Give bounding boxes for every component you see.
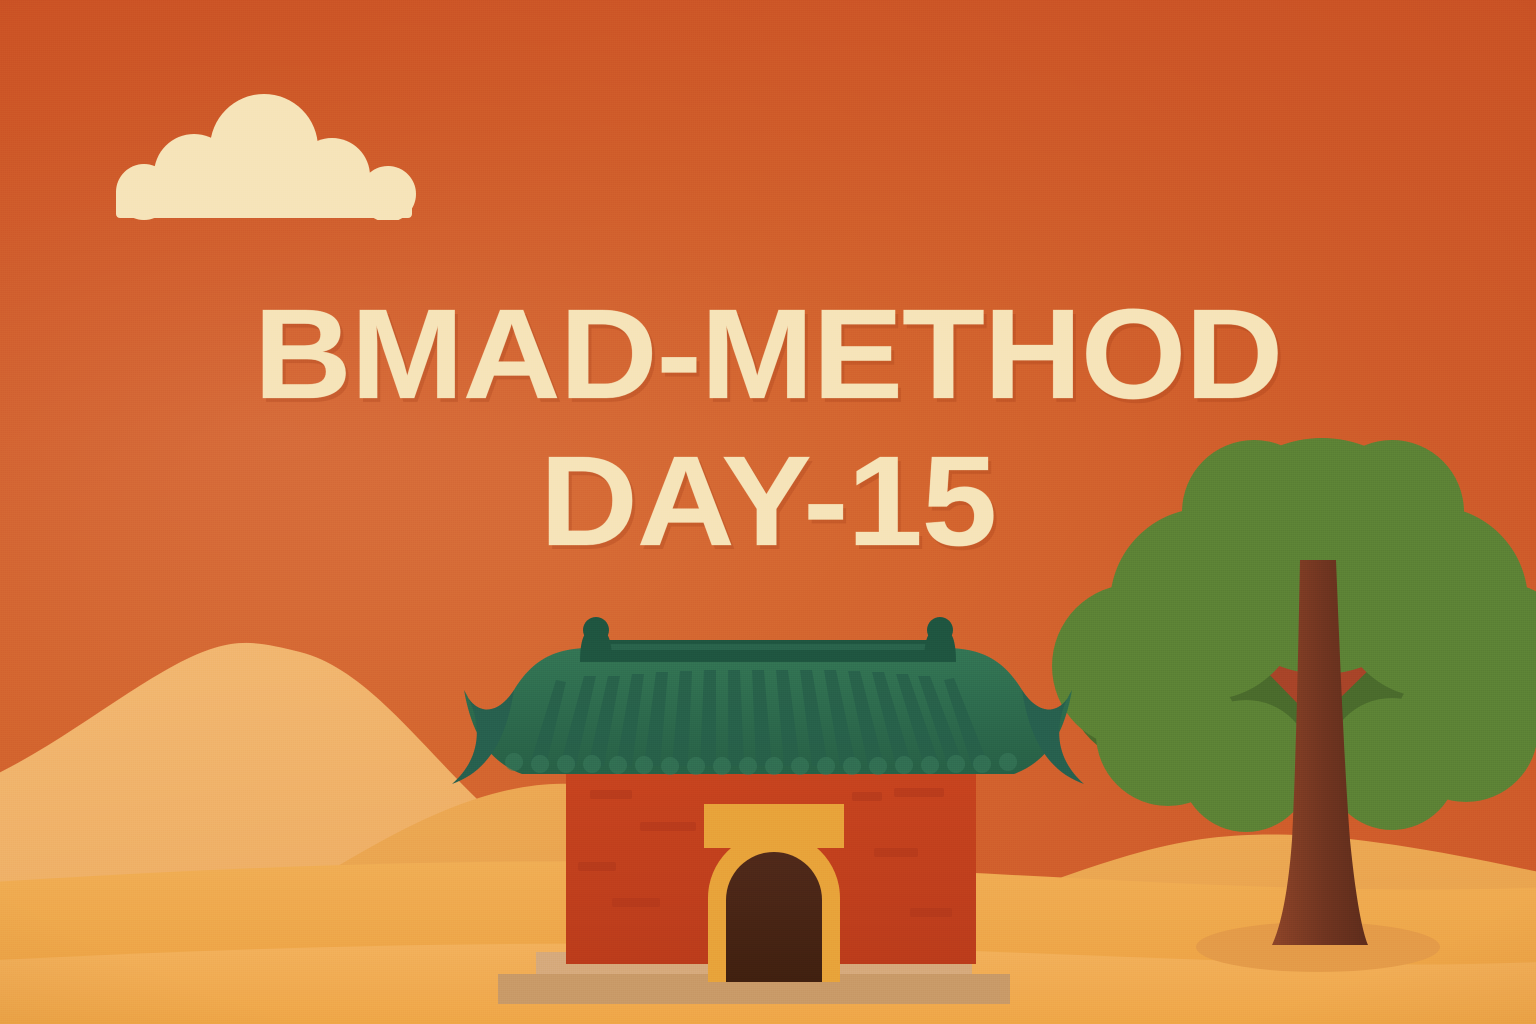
roof-finial-right-knob — [927, 617, 953, 643]
poster-canvas: BMAD-METHOD DAY-15 — [0, 0, 1536, 1024]
roof-ridge-highlight — [598, 644, 938, 650]
cloud-icon — [82, 92, 446, 220]
temple-roof — [452, 617, 1084, 784]
temple-door-opening — [726, 852, 822, 982]
roof-ridge — [590, 640, 946, 662]
tree-canopy — [1052, 438, 1536, 832]
roof-finial-left-knob — [583, 617, 609, 643]
